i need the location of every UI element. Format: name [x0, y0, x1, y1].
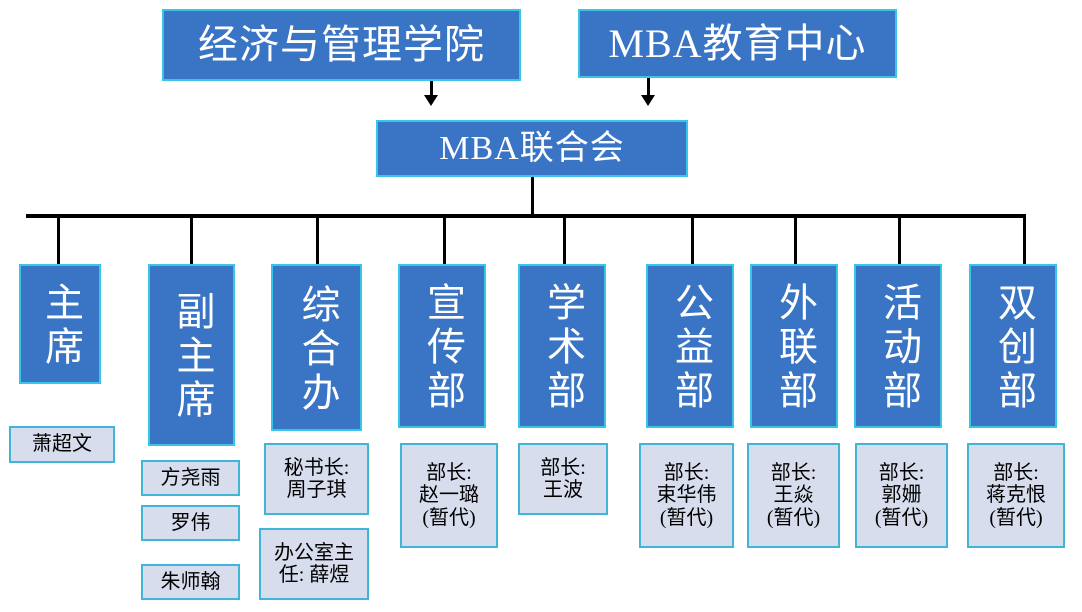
dept-box-academic[interactable]: 学术部: [518, 264, 606, 428]
member-box-activities-1[interactable]: 部长: 郭姗 (暂代): [855, 443, 948, 548]
member-box-vice-chairman-2[interactable]: 罗伟: [141, 505, 240, 541]
member-box-chairman-1[interactable]: 萧超文: [9, 426, 115, 463]
connector-drop-3: [316, 214, 319, 264]
member-box-publicity-1[interactable]: 部长: 赵一璐 (暂代): [400, 443, 498, 548]
dept-box-external-relations[interactable]: 外联部: [750, 264, 838, 428]
connector-horizontal-bus: [26, 214, 1026, 218]
arrow-down-icon-center: [641, 95, 655, 106]
connector-drop-8: [898, 214, 901, 264]
member-box-innovation-1[interactable]: 部长: 蒋克恨 (暂代): [967, 443, 1065, 548]
member-box-general-office-2[interactable]: 办公室主 任: 薛煜: [259, 528, 369, 600]
node-mba-center[interactable]: MBA教育中心: [578, 9, 897, 78]
node-school[interactable]: 经济与管理学院: [162, 9, 521, 81]
dept-box-general-office[interactable]: 综合办: [271, 264, 362, 431]
dept-box-innovation[interactable]: 双创部: [969, 264, 1057, 428]
member-box-vice-chairman-1[interactable]: 方尧雨: [141, 460, 240, 496]
connector-drop-1: [57, 214, 60, 264]
dept-box-vice-chairman[interactable]: 副主席: [148, 264, 235, 446]
member-box-public-welfare-1[interactable]: 部长: 束华伟 (暂代): [639, 443, 734, 548]
dept-box-activities[interactable]: 活动部: [854, 264, 942, 428]
org-chart: 经济与管理学院 MBA教育中心 MBA联合会 主席 副主席 综合办 宣传部 学术…: [0, 0, 1082, 612]
connector-drop-7: [794, 214, 797, 264]
member-box-academic-1[interactable]: 部长: 王波: [518, 443, 608, 515]
dept-box-publicity[interactable]: 宣传部: [398, 264, 486, 428]
node-mba-union[interactable]: MBA联合会: [376, 120, 688, 177]
member-box-general-office-1[interactable]: 秘书长: 周子琪: [264, 443, 369, 515]
member-box-external-relations-1[interactable]: 部长: 王焱 (暂代): [747, 443, 840, 548]
connector-drop-6: [691, 214, 694, 264]
connector-drop-9: [1023, 214, 1026, 264]
connector-drop-4: [443, 214, 446, 264]
connector-root-stem: [531, 177, 534, 215]
connector-drop-5: [563, 214, 566, 264]
dept-box-chairman[interactable]: 主席: [19, 264, 101, 384]
dept-box-public-welfare[interactable]: 公益部: [646, 264, 734, 428]
arrow-down-icon-school: [424, 95, 438, 106]
connector-drop-2: [190, 214, 193, 264]
member-box-vice-chairman-3[interactable]: 朱师翰: [141, 564, 240, 600]
